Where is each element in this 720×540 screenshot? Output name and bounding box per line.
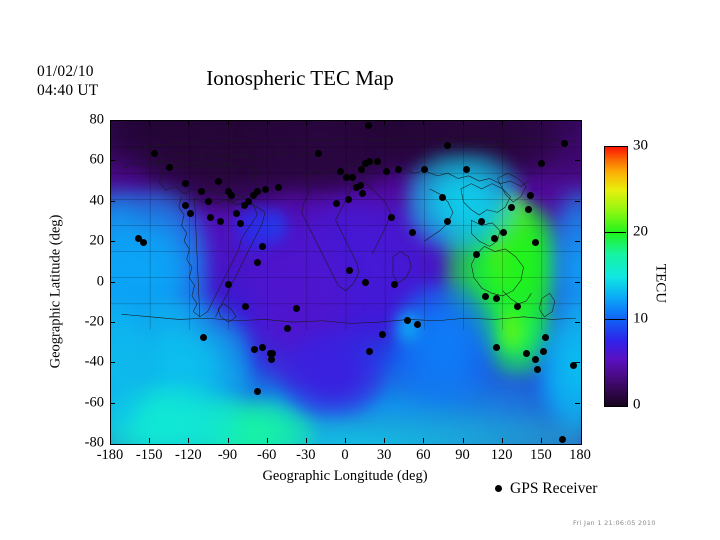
y-axis-tick-label: 80 [66, 112, 104, 129]
x-axis-tick [423, 120, 424, 125]
gps-receiver-marker [251, 346, 258, 353]
tec-map-plot-area [110, 120, 582, 445]
gps-receiver-marker [365, 122, 372, 129]
gps-receiver-marker [444, 142, 451, 149]
gps-receiver-icon [495, 485, 502, 492]
gps-receiver-marker [421, 166, 428, 173]
gps-receiver-marker [262, 186, 269, 193]
gps-receiver-marker [343, 174, 350, 181]
gps-receiver-marker [532, 356, 539, 363]
gps-receiver-marker [346, 267, 353, 274]
gps-receiver-marker [534, 366, 541, 373]
gps-receiver-marker [254, 188, 261, 195]
y-axis-tick [110, 282, 115, 283]
legend: GPS Receiver [495, 480, 597, 498]
x-axis-tick [267, 120, 268, 125]
colorbar-tick-label: 20 [633, 224, 648, 241]
y-axis-tick [110, 322, 115, 323]
colorbar-tick-label: 10 [633, 310, 648, 327]
y-axis-tick [575, 241, 580, 242]
gps-receiver-marker [366, 348, 373, 355]
colorbar [604, 146, 628, 407]
gps-receiver-marker [391, 281, 398, 288]
gps-receiver-marker [409, 229, 416, 236]
y-axis-title: Geographic Latitude (deg) [48, 142, 65, 442]
gps-receiver-marker [345, 196, 352, 203]
gps-receiver-marker [359, 190, 366, 197]
gps-receiver-marker [254, 259, 261, 266]
x-axis-tick [345, 438, 346, 443]
gps-receiver-marker [493, 295, 500, 302]
colorbar-tick-label: 0 [633, 397, 641, 414]
x-axis-tick [463, 438, 464, 443]
y-axis-tick-label: -80 [66, 435, 104, 452]
gps-receiver-marker [478, 218, 485, 225]
x-axis-tick [228, 120, 229, 125]
x-axis-tick-label: -150 [136, 447, 163, 464]
gps-receiver-marker [374, 158, 381, 165]
x-axis-tick [188, 120, 189, 125]
y-axis-tick [575, 362, 580, 363]
gps-receiver-marker [293, 305, 300, 312]
x-axis-tick [149, 438, 150, 443]
gps-receiver-marker [473, 251, 480, 258]
gps-receiver-marker [237, 220, 244, 227]
gps-receiver-marker [366, 158, 373, 165]
gps-receiver-marker [333, 200, 340, 207]
gps-receiver-marker [353, 184, 360, 191]
y-axis-tick [110, 403, 115, 404]
x-axis-tick-label: -120 [175, 447, 202, 464]
gps-receiver-markers [111, 121, 581, 444]
colorbar-tick [604, 232, 626, 233]
y-axis-tick [110, 160, 115, 161]
x-axis-tick [423, 438, 424, 443]
gps-receiver-marker [217, 218, 224, 225]
gps-receiver-marker [388, 214, 395, 221]
gps-receiver-marker [493, 344, 500, 351]
y-axis-tick [575, 201, 580, 202]
gps-receiver-marker [284, 325, 291, 332]
x-axis-tick-label: 180 [569, 447, 591, 464]
x-axis-tick [384, 120, 385, 125]
gps-receiver-marker [439, 194, 446, 201]
gps-receiver-marker [225, 281, 232, 288]
gps-receiver-marker [491, 235, 498, 242]
gps-receiver-marker [383, 168, 390, 175]
colorbar-title: TECU [652, 224, 669, 344]
gps-receiver-marker [187, 210, 194, 217]
gps-receiver-marker [268, 356, 275, 363]
gps-receiver-marker [514, 303, 521, 310]
gps-receiver-marker [523, 350, 530, 357]
gps-receiver-marker [414, 321, 421, 328]
x-axis-tick [463, 120, 464, 125]
y-axis-tick [110, 362, 115, 363]
x-axis-tick-label: 60 [416, 447, 431, 464]
gps-receiver-marker [379, 331, 386, 338]
gps-receiver-marker [561, 140, 568, 147]
gps-receiver-marker [275, 184, 282, 191]
x-axis-tick-label: 150 [530, 447, 552, 464]
x-axis-tick [188, 438, 189, 443]
gps-receiver-marker [358, 166, 365, 173]
y-axis-tick-label: 40 [66, 192, 104, 209]
y-axis-tick [575, 282, 580, 283]
y-axis-tick [575, 322, 580, 323]
x-axis-tick-label: -90 [218, 447, 237, 464]
gps-receiver-marker [259, 344, 266, 351]
y-axis-tick-label: -60 [66, 394, 104, 411]
generated-timestamp: Fri Jan 1 21:06:05 2010 [573, 519, 656, 527]
gps-receiver-marker [200, 334, 207, 341]
gps-receiver-marker [182, 180, 189, 187]
y-axis-tick [575, 403, 580, 404]
x-axis-tick [384, 438, 385, 443]
x-axis-tick [502, 438, 503, 443]
x-axis-tick-label: 30 [377, 447, 392, 464]
gps-receiver-marker [542, 334, 549, 341]
x-axis-tick-label: -60 [257, 447, 276, 464]
colorbar-tick [604, 319, 626, 320]
y-axis-tick [110, 201, 115, 202]
y-axis-tick-label: -20 [66, 313, 104, 330]
gps-receiver-marker [559, 436, 566, 443]
gps-receiver-marker [151, 150, 158, 157]
y-axis-tick [110, 241, 115, 242]
gps-receiver-marker [362, 279, 369, 286]
gps-receiver-marker [540, 348, 547, 355]
page-title: Ionospheric TEC Map [0, 66, 600, 91]
y-axis-tick-label: 60 [66, 152, 104, 169]
y-axis-tick-label: 0 [66, 273, 104, 290]
x-axis-tick [149, 120, 150, 125]
gps-receiver-marker [233, 210, 240, 217]
legend-label: GPS Receiver [510, 480, 597, 497]
gps-receiver-marker [463, 166, 470, 173]
gps-receiver-marker [395, 166, 402, 173]
gps-receiver-marker [228, 192, 235, 199]
x-axis-tick [228, 438, 229, 443]
x-axis-tick [541, 438, 542, 443]
gps-receiver-marker [166, 164, 173, 171]
x-axis-tick [306, 438, 307, 443]
y-axis-tick-label: 20 [66, 233, 104, 250]
gps-receiver-marker [140, 239, 147, 246]
x-axis-tick [541, 120, 542, 125]
x-axis-tick [502, 120, 503, 125]
gps-receiver-marker [245, 198, 252, 205]
gps-receiver-marker [532, 239, 539, 246]
gps-receiver-marker [205, 198, 212, 205]
gps-receiver-marker [500, 229, 507, 236]
y-axis-tick [575, 160, 580, 161]
gps-receiver-marker [254, 388, 261, 395]
x-axis-tick [267, 438, 268, 443]
gps-receiver-marker [215, 178, 222, 185]
gps-receiver-marker [259, 243, 266, 250]
gps-receiver-marker [525, 206, 532, 213]
gps-receiver-marker [444, 218, 451, 225]
gps-receiver-marker [198, 188, 205, 195]
gps-receiver-marker [182, 202, 189, 209]
gps-receiver-marker [315, 150, 322, 157]
gps-receiver-marker [482, 293, 489, 300]
gps-receiver-marker [207, 214, 214, 221]
y-axis-tick-label: -40 [66, 354, 104, 371]
colorbar-tick-label: 30 [633, 138, 648, 155]
gps-receiver-marker [349, 174, 356, 181]
tec-map-figure: 01/02/10 04:40 UT Ionospheric TEC Map [0, 0, 720, 540]
x-axis-tick [345, 120, 346, 125]
x-axis-tick-label: 0 [341, 447, 348, 464]
gps-receiver-marker [538, 160, 545, 167]
gps-receiver-marker [404, 317, 411, 324]
x-axis-tick-label: 120 [491, 447, 513, 464]
x-axis-tick-label: -30 [296, 447, 315, 464]
x-axis-tick [306, 120, 307, 125]
gps-receiver-marker [242, 303, 249, 310]
gps-receiver-marker [527, 192, 534, 199]
gps-receiver-marker [508, 204, 515, 211]
x-axis-tick-label: 90 [455, 447, 470, 464]
